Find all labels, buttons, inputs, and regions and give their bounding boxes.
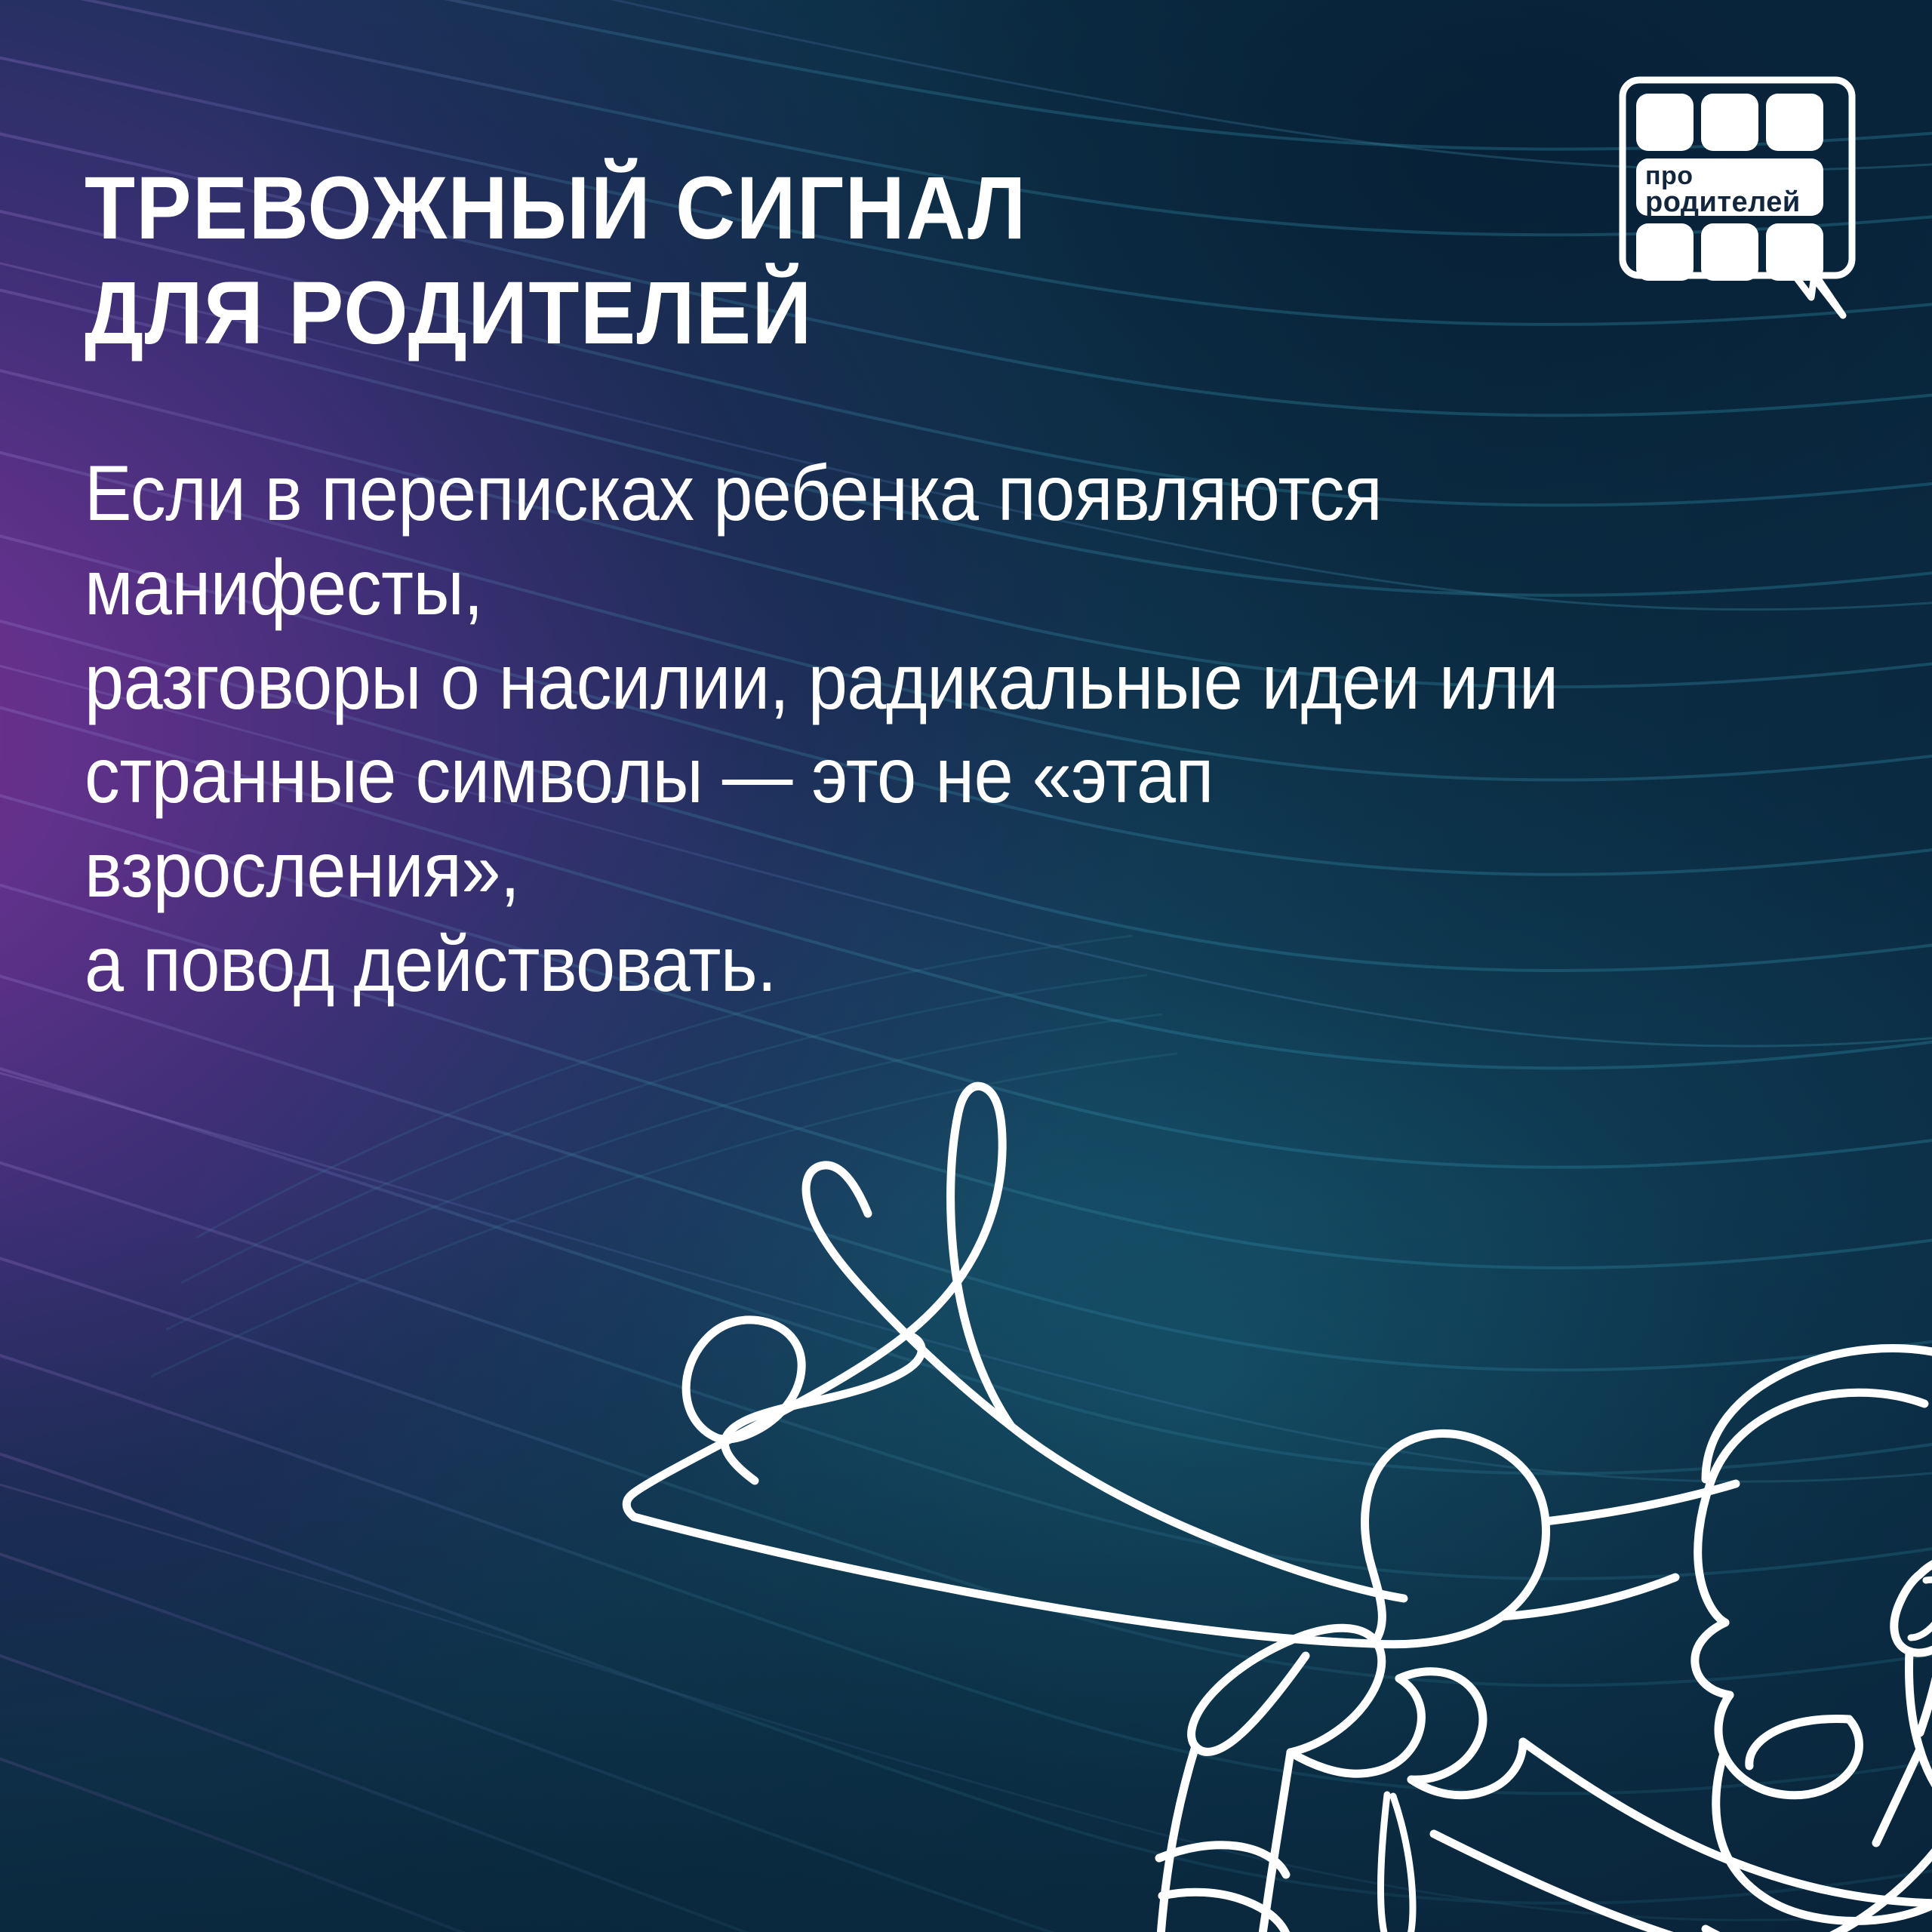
logo-tile	[1636, 223, 1694, 281]
page-title: ТРЕВОЖНЫЙ СИГНАЛ ДЛЯ РОДИТЕЛЕЙ	[85, 156, 1320, 366]
megaphone-illustration	[528, 724, 1932, 1932]
logo-tile	[1636, 94, 1694, 151]
brand-logo[interactable]: про родителей	[1617, 74, 1858, 334]
logo-text-line2: родителей	[1645, 186, 1801, 218]
logo-tile	[1766, 223, 1823, 281]
logo-tile	[1766, 94, 1823, 151]
logo-tile	[1701, 94, 1758, 151]
poster-canvas: про родителей ТРЕВОЖНЫЙ СИГНАЛ ДЛЯ РОДИТ…	[0, 0, 1932, 1932]
logo-tile	[1701, 223, 1758, 281]
